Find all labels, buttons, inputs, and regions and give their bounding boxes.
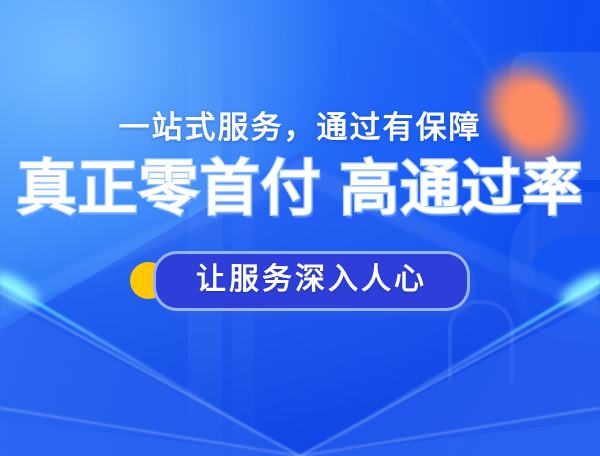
banner-tag-pill[interactable]: 让服务深入人心 [153,251,470,311]
banner-content: 一站式服务，通过有保障 真正零首付 高通过率 让服务深入人心 [0,0,600,456]
banner-tag-row: 让服务深入人心 [130,251,470,311]
promo-banner: 一站式服务，通过有保障 真正零首付 高通过率 让服务深入人心 [0,0,600,456]
banner-subtitle: 一站式服务，通过有保障 [119,112,482,143]
banner-headline: 真正零首付 高通过率 [17,157,584,221]
banner-tag-label: 让服务深入人心 [196,265,427,295]
